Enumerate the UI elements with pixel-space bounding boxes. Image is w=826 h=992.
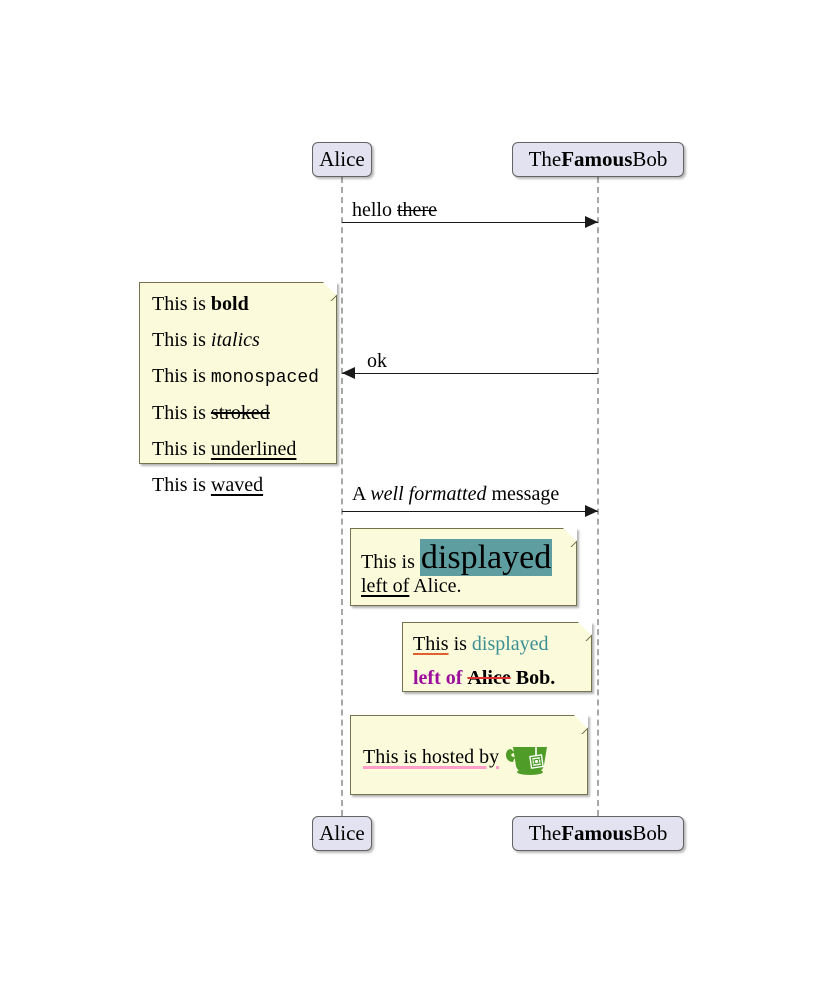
message-hello-there-arrowhead-icon xyxy=(585,216,598,228)
participant-alice-bottom[interactable]: Alice xyxy=(312,816,372,851)
note-text-underlined: left of xyxy=(361,575,409,597)
sequence-diagram-canvas: Alice The Famous Bob hello there This is… xyxy=(0,0,826,992)
note-line: This is waved xyxy=(152,475,324,495)
note-text: This is xyxy=(152,329,211,351)
note-colored-formatting-body: This is displayed left of Alice Bob. xyxy=(403,623,591,700)
note-line: This is displayed xyxy=(361,535,566,569)
note-line: This is italics xyxy=(152,330,324,350)
note-text-underlined-orange: This xyxy=(413,633,449,655)
note-text-waved: waved xyxy=(211,474,263,496)
note-text: This is xyxy=(361,551,420,573)
participant-alice-label: Alice xyxy=(319,823,364,844)
lifeline-bob xyxy=(597,177,599,816)
note-colored-formatting: This is displayed left of Alice Bob. xyxy=(402,622,592,692)
note-text-highlighted: displayed xyxy=(420,539,552,576)
message-well-formatted-line[interactable] xyxy=(342,511,598,512)
participant-bob-label-prefix: The xyxy=(529,823,562,844)
note-text-bold: bold xyxy=(211,293,249,315)
participant-alice-top[interactable]: Alice xyxy=(312,142,372,177)
note-text-purple: left of xyxy=(413,667,462,689)
note-displayed-left-of-alice: This is displayed left of Alice. xyxy=(350,528,577,606)
participant-bob-label-suffix: Bob xyxy=(632,823,667,844)
note-formatting-samples-body: This is bold This is italics This is mon… xyxy=(140,283,336,504)
lifeline-alice xyxy=(341,177,343,816)
note-text-underlined: underlined xyxy=(211,438,297,460)
message-ok-label: ok xyxy=(367,351,387,371)
note-text: This is xyxy=(152,474,211,496)
note-text-monospaced: monospaced xyxy=(211,368,319,388)
note-text: This is xyxy=(152,402,211,424)
note-text-underlined-pink: This is hosted by xyxy=(363,746,499,768)
participant-bob-bottom[interactable]: The Famous Bob xyxy=(512,816,684,851)
note-text: is xyxy=(449,633,472,655)
note-formatting-samples: This is bold This is italics This is mon… xyxy=(139,282,337,464)
participant-bob-label-famous: Famous xyxy=(561,149,632,170)
note-text-teal: displayed xyxy=(472,633,549,655)
note-line: left of Alice Bob. xyxy=(413,665,581,692)
message-hello-there-text: hello xyxy=(352,199,397,221)
note-line: This is stroked xyxy=(152,403,324,423)
note-text: This is xyxy=(152,293,211,315)
note-text: This is xyxy=(152,365,211,387)
message-hello-there-label: hello there xyxy=(352,200,437,220)
note-text-stroked: stroked xyxy=(211,402,270,424)
participant-bob-top[interactable]: The Famous Bob xyxy=(512,142,684,177)
note-text: This is xyxy=(152,438,211,460)
note-line: This is underlined xyxy=(152,439,324,459)
note-text-bold: Bob. xyxy=(516,667,555,689)
message-well-formatted-italic: well formatted xyxy=(370,483,486,505)
note-hosted-by-body: This is hosted by xyxy=(351,716,587,798)
message-ok-text: ok xyxy=(367,350,387,372)
note-line: This is hosted by xyxy=(363,735,575,779)
note-text-italic: italics xyxy=(211,329,260,351)
message-ok-arrowhead-icon xyxy=(342,367,355,379)
participant-alice-label: Alice xyxy=(319,149,364,170)
message-well-formatted-label: A well formatted message xyxy=(352,484,559,504)
message-hello-there-struck: there xyxy=(397,199,437,221)
note-text: Alice. xyxy=(409,575,461,597)
message-well-formatted-prefix: A xyxy=(352,483,370,505)
message-hello-there-line[interactable] xyxy=(342,222,598,223)
note-line: This is bold xyxy=(152,294,324,314)
note-line: This is displayed xyxy=(413,631,581,658)
note-text-struck-red: Alice xyxy=(467,667,510,689)
note-displayed-body: This is displayed left of Alice. xyxy=(351,529,576,606)
message-well-formatted-suffix: message xyxy=(486,483,559,505)
message-well-formatted-arrowhead-icon xyxy=(585,505,598,517)
participant-bob-label-famous: Famous xyxy=(561,823,632,844)
participant-bob-label-suffix: Bob xyxy=(632,149,667,170)
message-ok-line[interactable] xyxy=(342,373,598,374)
note-hosted-by: This is hosted by xyxy=(350,715,588,795)
participant-bob-label-prefix: The xyxy=(529,149,562,170)
note-line: left of Alice. xyxy=(361,573,566,600)
note-line: This is monospaced xyxy=(152,366,324,387)
teacup-icon xyxy=(503,735,551,779)
